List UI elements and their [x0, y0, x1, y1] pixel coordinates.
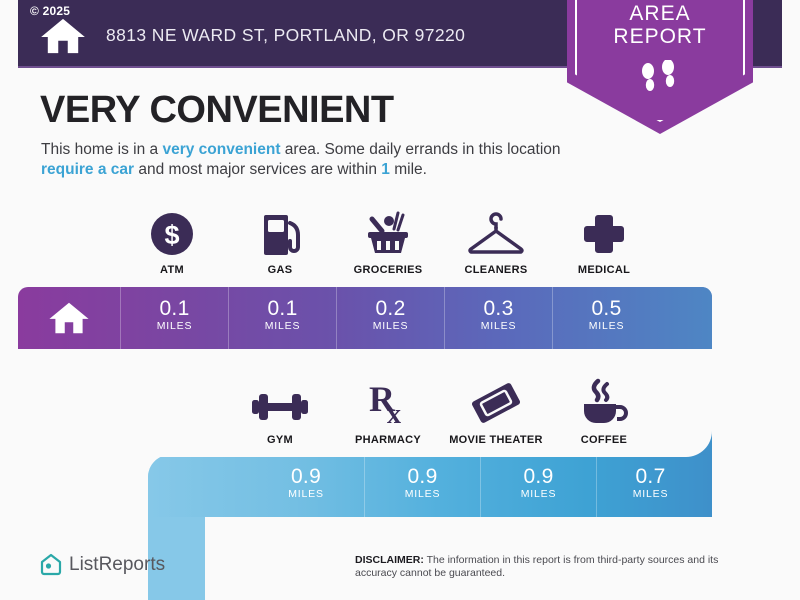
distance-value: 0.5	[553, 297, 660, 321]
distance-unit: MILES	[365, 488, 480, 500]
distance-segment: 0.9 MILES	[364, 455, 480, 517]
distance-segment: 0.9 MILES	[248, 455, 364, 517]
amenity-label: GYM	[226, 434, 334, 446]
svg-text:$: $	[164, 220, 179, 250]
amenity-label: CLEANERS	[442, 264, 550, 276]
area-report-badge: AREA REPORT	[567, 0, 753, 134]
summary-part-4: mile.	[390, 161, 427, 178]
summary-highlight-3: 1	[381, 161, 390, 178]
movie-ticket-icon	[442, 375, 550, 427]
badge-line-1: AREA	[629, 2, 690, 25]
distance-unit: MILES	[481, 488, 596, 500]
disclaimer: DISCLAIMER: The information in this repo…	[355, 554, 735, 580]
distance-unit: MILES	[445, 320, 552, 332]
summary-part-2: area. Some daily errands in this locatio…	[281, 141, 561, 158]
home-icon	[48, 301, 90, 335]
rx-icon: R x	[334, 375, 442, 427]
distance-segment: 0.7 MILES	[596, 455, 704, 517]
amenity-label: GROCERIES	[334, 264, 442, 276]
distance-unit: MILES	[553, 320, 660, 332]
distance-unit: MILES	[248, 488, 364, 500]
page-title: VERY CONVENIENT	[40, 89, 394, 132]
dumbbell-icon	[226, 375, 334, 427]
amenity-label: ATM	[118, 264, 226, 276]
amenity-coffee[interactable]: COFFEE	[550, 375, 658, 446]
distance-value: 0.1	[229, 297, 336, 321]
distance-unit: MILES	[337, 320, 444, 332]
distance-value: 0.9	[248, 465, 364, 489]
distance-segment: 0.5 MILES	[552, 287, 660, 349]
amenity-gym[interactable]: GYM	[226, 375, 334, 446]
footprints-icon	[637, 60, 683, 98]
medical-cross-icon	[550, 205, 658, 257]
amenity-movie-theater[interactable]: MOVIE THEATER	[442, 375, 550, 446]
distance-value: 0.1	[121, 297, 228, 321]
distance-segment: 0.1 MILES	[120, 287, 228, 349]
amenity-label: PHARMACY	[334, 434, 442, 446]
listreports-brand[interactable]: ListReports	[40, 553, 165, 577]
summary-part-1: This home is in a	[41, 141, 162, 158]
area-report-page: © 2025 8813 NE WARD ST, PORTLAND, OR 972…	[0, 0, 800, 600]
distance-unit: MILES	[597, 488, 704, 500]
disclaimer-title: DISCLAIMER:	[355, 554, 424, 566]
distance-value: 0.2	[337, 297, 444, 321]
amenity-label: MEDICAL	[550, 264, 658, 276]
amenity-label: GAS	[226, 264, 334, 276]
amenity-atm[interactable]: $ ATM	[118, 205, 226, 276]
distance-value: 0.9	[365, 465, 480, 489]
badge-line-2: REPORT	[613, 25, 706, 48]
gas-pump-icon	[226, 205, 334, 257]
brand-name: ListReports	[69, 554, 165, 576]
amenity-groceries[interactable]: GROCERIES	[334, 205, 442, 276]
distance-bar-row-1: 0.1 MILES 0.1 MILES 0.2 MILES 0.3 MILES …	[18, 287, 712, 349]
clothes-hanger-icon	[442, 205, 550, 257]
summary-part-3: and most major services are within	[134, 161, 381, 178]
distance-segment: 0.2 MILES	[336, 287, 444, 349]
property-address: 8813 NE WARD ST, PORTLAND, OR 97220	[106, 25, 465, 46]
summary-text: This home is in a very convenient area. …	[41, 140, 566, 180]
amenity-medical[interactable]: MEDICAL	[550, 205, 658, 276]
distance-segment: 0.1 MILES	[228, 287, 336, 349]
distance-unit: MILES	[229, 320, 336, 332]
amenity-label: COFFEE	[550, 434, 658, 446]
badge-title: AREA REPORT	[567, 2, 753, 48]
home-marker-segment	[18, 287, 120, 349]
distance-value: 0.7	[597, 465, 704, 489]
dollar-circle-icon: $	[118, 205, 226, 257]
distance-segment: 0.9 MILES	[480, 455, 596, 517]
coffee-cup-icon	[550, 375, 658, 427]
distance-bar-row-2: 0.9 MILES 0.9 MILES 0.9 MILES 0.7 MILES	[148, 455, 712, 517]
amenity-gas[interactable]: GAS	[226, 205, 334, 276]
grocery-basket-icon	[334, 205, 442, 257]
distance-value: 0.3	[445, 297, 552, 321]
amenity-pharmacy[interactable]: R x PHARMACY	[334, 375, 442, 446]
distance-segment: 0.3 MILES	[444, 287, 552, 349]
home-icon	[40, 17, 86, 55]
svg-text:x: x	[387, 399, 401, 427]
distance-unit: MILES	[121, 320, 228, 332]
listreports-logo-icon	[40, 553, 62, 577]
amenity-label: MOVIE THEATER	[442, 434, 550, 446]
summary-highlight-1: very convenient	[162, 141, 280, 158]
copyright-label: © 2025	[30, 4, 70, 18]
summary-highlight-2: require a car	[41, 161, 134, 178]
amenity-cleaners[interactable]: CLEANERS	[442, 205, 550, 276]
distance-value: 0.9	[481, 465, 596, 489]
